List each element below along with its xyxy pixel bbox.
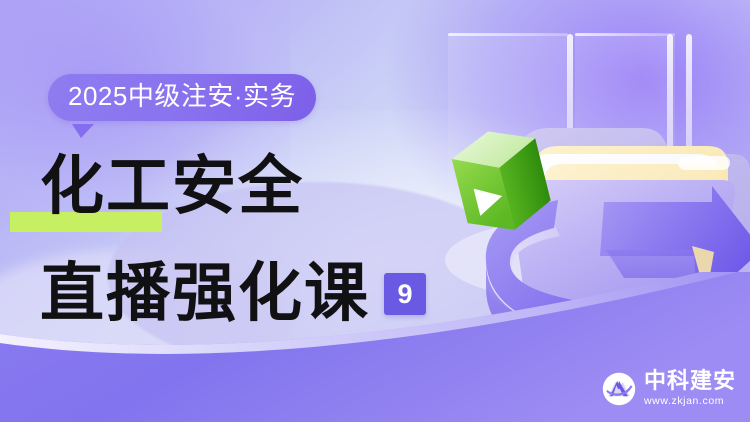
brand-name: 中科建安 [644,370,736,394]
title-line-2-text: 直播强化课 [40,257,370,331]
text-content: 2025中级注安·实务 化工安全 直播强化课 9 [0,0,430,422]
badge-tail [72,124,94,138]
course-category-badge: 2025中级注安·实务 [48,74,316,121]
brand-url: www.zkjan.com [644,395,736,408]
title-line-1-text: 化工安全 [40,150,304,224]
course-banner: 2025中级注安·实务 化工安全 直播强化课 9 中科建安 www.zkjan.… [0,0,750,422]
mountain-a-logo-icon [601,371,637,407]
folder-tab-notch [678,156,730,170]
brand-logo[interactable]: 中科建安 www.zkjan.com [601,370,736,408]
page-title: 化工安全 [40,150,304,224]
title-line-1: 化工安全 [40,150,304,224]
title-row-2: 直播强化课 9 [40,257,426,331]
episode-number-badge: 9 [384,273,426,315]
logo-text-block: 中科建安 www.zkjan.com [644,370,736,408]
title-line-2: 直播强化课 [40,257,370,331]
